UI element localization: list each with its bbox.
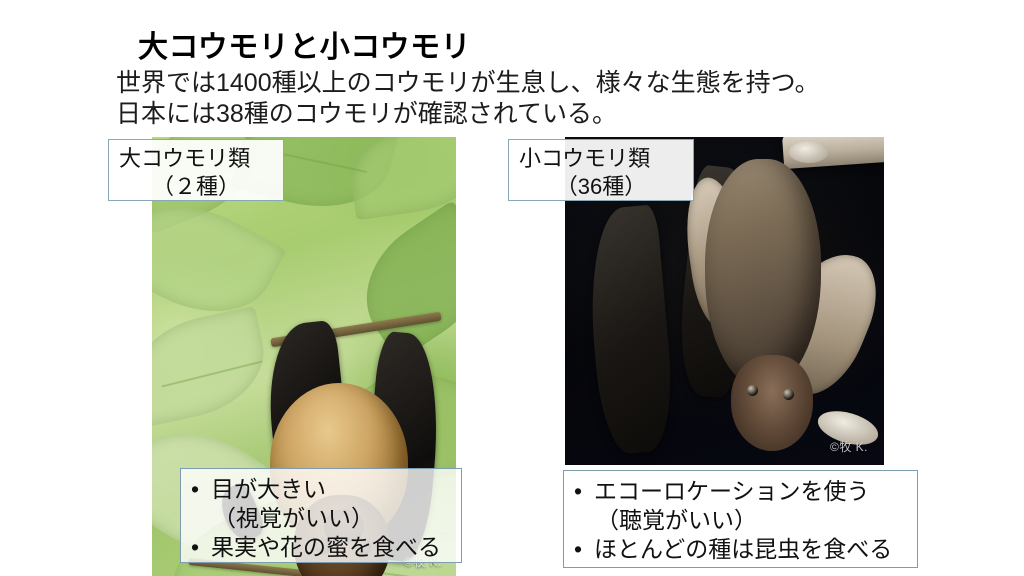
megabat-label-line-1: 大コウモリ類 xyxy=(119,145,273,173)
microbat-eye-right xyxy=(783,389,794,400)
megabat-caption-line-3: •果実や花の蜜を食べる xyxy=(191,533,453,562)
microbat-caption-text-3: ほとんどの種は昆虫を食べる xyxy=(594,536,892,562)
microbat-eye-left xyxy=(747,385,758,396)
microbat-toe-cluster xyxy=(789,141,829,163)
megabat-label-line-2: （２種） xyxy=(119,173,273,201)
subtitle-block: 世界では1400種以上のコウモリが生息し、様々な生態を持つ。 日本には38種のコ… xyxy=(116,68,820,130)
microbat-caption-line-3: •ほとんどの種は昆虫を食べる xyxy=(574,535,909,564)
page-title: 大コウモリと小コウモリ xyxy=(138,22,471,66)
microbat-watermark: ©牧 K. xyxy=(830,438,868,455)
megabat-caption-line-2: （視覚がいい） xyxy=(191,504,453,533)
slide-canvas: 大コウモリと小コウモリ 世界では1400種以上のコウモリが生息し、様々な生態を持… xyxy=(0,0,1024,576)
megabat-caption-text-1: 目が大きい xyxy=(211,476,326,502)
megabat-label-box: 大コウモリ類 （２種） xyxy=(108,139,284,201)
bullet-icon: • xyxy=(574,477,594,506)
microbat-face xyxy=(731,355,813,451)
microbat-caption-box: •エコーロケーションを使う （聴覚がいい） •ほとんどの種は昆虫を食べる xyxy=(563,470,918,568)
bullet-icon: • xyxy=(574,535,594,564)
microbat-caption-line-2: （聴覚がいい） xyxy=(574,506,909,535)
subtitle-line-1: 世界では1400種以上のコウモリが生息し、様々な生態を持つ。 xyxy=(116,68,820,99)
bullet-icon: • xyxy=(191,533,211,562)
microbat-label-box: 小コウモリ類 （36種） xyxy=(508,139,694,201)
microbat-label-line-1: 小コウモリ類 xyxy=(519,145,683,173)
bullet-icon: • xyxy=(191,475,211,504)
microbat-caption-text-1: エコーロケーションを使う xyxy=(594,478,870,504)
microbat-label-line-2: （36種） xyxy=(519,173,683,201)
megabat-caption-line-1: •目が大きい xyxy=(191,475,453,504)
microbat-caption-line-1: •エコーロケーションを使う xyxy=(574,477,909,506)
megabat-caption-box: •目が大きい （視覚がいい） •果実や花の蜜を食べる xyxy=(180,468,462,563)
subtitle-line-2: 日本には38種のコウモリが確認されている。 xyxy=(116,99,820,130)
megabat-caption-text-3: 果実や花の蜜を食べる xyxy=(211,534,441,560)
